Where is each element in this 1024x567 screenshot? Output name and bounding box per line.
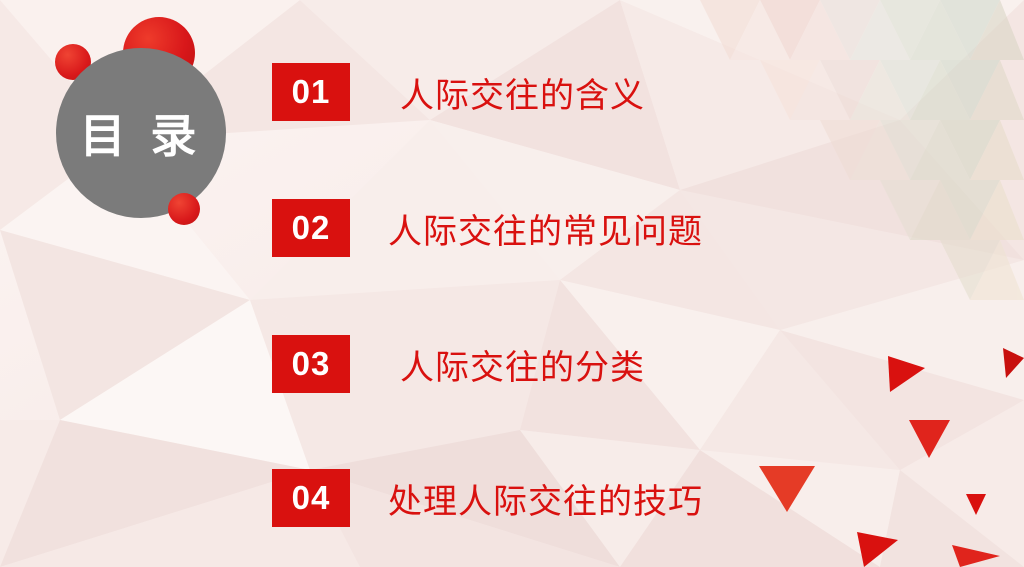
contents-number-badge: 04 — [272, 469, 350, 527]
contents-title: 人际交往的常见问题 — [388, 204, 703, 253]
contents-number-badge: 01 — [272, 63, 350, 121]
contents-item-02[interactable]: 02 人际交往的常见问题 — [272, 198, 703, 258]
contents-number-badge: 02 — [272, 199, 350, 257]
table-of-contents-badge: 目 录 — [56, 48, 226, 218]
contents-title: 人际交往的分类 — [400, 340, 645, 389]
contents-item-03[interactable]: 03 人际交往的分类 — [272, 334, 645, 394]
contents-item-04[interactable]: 04 处理人际交往的技巧 — [272, 468, 703, 528]
decorative-dot-small — [168, 193, 200, 225]
contents-item-01[interactable]: 01 人际交往的含义 — [272, 62, 645, 122]
badge-label: 目 录 — [80, 100, 203, 166]
contents-title: 处理人际交往的技巧 — [388, 474, 703, 523]
presentation-slide: 目 录 01 人际交往的含义 02 人际交往的常见问题 03 人际交往的分类 0… — [0, 0, 1024, 567]
contents-number-badge: 03 — [272, 335, 350, 393]
contents-title: 人际交往的含义 — [400, 68, 645, 117]
contents-list: 01 人际交往的含义 02 人际交往的常见问题 03 人际交往的分类 04 处理… — [272, 0, 832, 567]
